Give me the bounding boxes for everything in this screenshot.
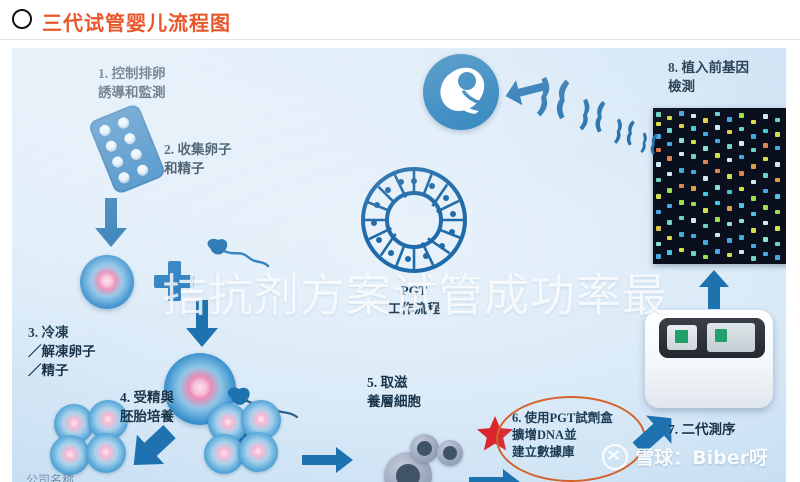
- step-2-label: 2. 收集卵子 和精子: [164, 140, 232, 178]
- page-title: 三代试管婴儿流程图: [42, 7, 231, 36]
- circle-outline-icon: [12, 9, 32, 29]
- watermark-text: 雪球：Biber呀: [635, 443, 768, 470]
- overlay-headline-text: 拮抗剂方案试管成功率最: [162, 270, 668, 322]
- xueqiu-logo-icon: [602, 444, 628, 470]
- page-header: 三代试管婴儿流程图: [0, 0, 800, 40]
- arrow-to-embryo-left: [124, 420, 180, 476]
- step-3-label: 3. 冷凍 ／解凍卵子 ／精子: [28, 323, 96, 380]
- chromosome-icon: [538, 74, 670, 170]
- watermark: 雪球：Biber呀: [602, 443, 768, 470]
- arrow-step1-to-ovum: [94, 198, 128, 248]
- ovum-icon-frozen: [80, 255, 134, 309]
- header-divider: [0, 39, 800, 40]
- flowchart-image: 1. 控制排卵 誘導和監測 2. 收集卵子 和精子: [12, 48, 786, 482]
- arrow-embryo-to-step5: [302, 446, 354, 474]
- arrow-to-fetus: [504, 76, 548, 106]
- arrow-step7-to-step8: [698, 270, 730, 310]
- step-1-label: 1. 控制排卵 誘導和監測: [98, 64, 166, 102]
- step-8-label: 8. 植入前基因 檢測: [668, 58, 749, 96]
- screenshot-root: 三代试管婴儿流程图 1. 控制排卵 誘導和監測 2. 收集卵子 和精子: [0, 0, 800, 482]
- dna-sequencing-gel-icon: [653, 108, 786, 264]
- arrow-step5-to-step6: [469, 468, 521, 482]
- pill-blister-icon: [87, 103, 166, 196]
- step-5-label: 5. 取滋 養層細胞: [367, 373, 421, 411]
- step-7-label: 7. 二代測序: [668, 420, 736, 439]
- step-4-label: 4. 受精與 胚胎培養: [120, 388, 174, 426]
- bottom-cut-caption: 公司名称: [26, 471, 74, 482]
- fetus-badge-icon: [423, 54, 499, 130]
- step-6-label: 6. 使用PGT試劑盒 擴增DNA並 建立數據庫: [512, 410, 613, 461]
- blastocyst-ring-icon: [360, 166, 468, 274]
